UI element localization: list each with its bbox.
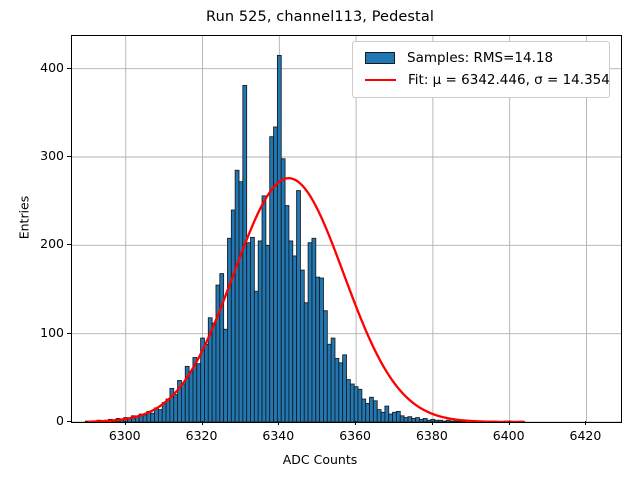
- histogram-bar: [381, 412, 385, 422]
- histogram-bar: [389, 414, 393, 422]
- histogram-bar: [254, 291, 258, 422]
- legend-bar-swatch-icon: [360, 47, 400, 69]
- histogram-bar: [262, 196, 266, 422]
- x-tick-label: 6380: [402, 428, 462, 443]
- histogram-bar: [270, 137, 274, 422]
- histogram-bar: [297, 191, 301, 422]
- histogram-bar: [266, 245, 270, 422]
- histogram-bar: [174, 395, 178, 422]
- histogram-bar: [285, 206, 289, 422]
- histogram-bar: [446, 420, 450, 422]
- histogram-bar: [350, 384, 354, 422]
- y-tick-label: 400: [14, 60, 64, 74]
- x-tick-label: 6320: [172, 428, 232, 443]
- x-tick-mark: [202, 421, 203, 425]
- histogram-bar: [293, 256, 297, 422]
- histogram-bar: [216, 285, 220, 422]
- histogram-bar: [308, 243, 312, 422]
- y-tick-mark: [67, 68, 71, 69]
- histogram-bar: [251, 237, 255, 422]
- histogram-bar: [362, 399, 366, 422]
- y-tick-label: 0: [14, 413, 64, 427]
- histogram-bar: [408, 417, 412, 422]
- histogram-bar: [404, 418, 408, 422]
- histogram-bar: [212, 323, 216, 422]
- y-tick-label: 100: [14, 325, 64, 339]
- histogram-bar: [393, 412, 397, 422]
- x-tick-mark: [585, 421, 586, 425]
- histogram-bar: [335, 358, 339, 422]
- histogram-bar: [400, 416, 404, 422]
- histogram-bar: [339, 363, 343, 422]
- histogram-bar: [416, 418, 420, 422]
- histogram-bar: [396, 411, 400, 422]
- histogram-bar: [320, 278, 324, 422]
- x-tick-label: 6360: [325, 428, 385, 443]
- histogram-bar: [304, 303, 308, 422]
- histogram-bar: [274, 127, 278, 422]
- histogram-bar: [247, 243, 251, 422]
- x-tick-label: 6420: [555, 428, 615, 443]
- x-tick-mark: [509, 421, 510, 425]
- histogram-bar: [143, 415, 147, 422]
- x-tick-label: 6340: [248, 428, 308, 443]
- y-tick-mark: [67, 421, 71, 422]
- histogram-bar: [377, 410, 381, 422]
- histogram-bar: [204, 344, 208, 422]
- x-tick-mark: [278, 421, 279, 425]
- legend-label-fit: Fit: μ = 6342.446, σ = 14.354: [400, 72, 610, 88]
- x-axis-label: ADC Counts: [0, 452, 640, 467]
- histogram-bar: [312, 238, 316, 422]
- legend-item-samples: Samples: RMS=14.18: [360, 47, 602, 69]
- histogram-bar: [373, 401, 377, 422]
- histogram-bar: [370, 397, 374, 422]
- histogram-bar: [354, 387, 358, 422]
- histogram-bar: [454, 421, 458, 422]
- chart-title: Run 525, channel113, Pedestal: [0, 9, 640, 25]
- histogram-bar: [442, 421, 446, 422]
- chart-legend: Samples: RMS=14.18 Fit: μ = 6342.446, σ …: [352, 41, 610, 98]
- histogram-bar: [220, 274, 224, 422]
- histogram-bar: [327, 344, 331, 422]
- histogram-bar: [343, 355, 347, 422]
- y-tick-mark: [67, 244, 71, 245]
- histogram-bar: [427, 420, 431, 422]
- histogram-bar: [423, 418, 427, 422]
- histogram-bar: [300, 270, 304, 422]
- histogram-bar: [289, 241, 293, 422]
- histogram-bar: [385, 406, 389, 422]
- histogram-bar: [347, 380, 351, 422]
- histogram-bar: [277, 55, 281, 422]
- x-tick-mark: [355, 421, 356, 425]
- histogram-bar: [323, 311, 327, 422]
- legend-item-fit: Fit: μ = 6342.446, σ = 14.354: [360, 69, 602, 91]
- histogram-bar: [358, 389, 362, 422]
- legend-line-icon: [360, 69, 400, 91]
- histogram-bar: [235, 170, 239, 422]
- histogram-bar: [258, 241, 262, 422]
- x-tick-mark: [432, 421, 433, 425]
- legend-label-samples: Samples: RMS=14.18: [400, 50, 553, 66]
- y-axis-label: Entries: [17, 168, 32, 268]
- x-tick-mark: [125, 421, 126, 425]
- histogram-bar: [281, 159, 285, 422]
- histogram-bar: [158, 410, 162, 422]
- y-tick-mark: [67, 156, 71, 157]
- histogram-bar: [450, 421, 454, 422]
- histogram-bar: [435, 420, 439, 422]
- histogram-bar: [412, 418, 416, 422]
- histogram-bar: [243, 85, 247, 422]
- histogram-bar: [151, 413, 155, 422]
- y-tick-label: 300: [14, 148, 64, 162]
- histogram-bar: [239, 182, 243, 422]
- histogram-bar: [181, 384, 185, 422]
- histogram-bar: [331, 338, 335, 422]
- histogram-bar: [197, 364, 201, 422]
- chart-figure: Run 525, channel113, Pedestal 6300632063…: [0, 0, 640, 480]
- x-tick-label: 6400: [479, 428, 539, 443]
- histogram-bar: [231, 210, 235, 422]
- histogram-bar: [224, 329, 228, 422]
- y-tick-mark: [67, 333, 71, 334]
- x-tick-label: 6300: [95, 428, 155, 443]
- histogram-bars: [85, 55, 523, 422]
- histogram-bar: [366, 403, 370, 422]
- histogram-bar: [189, 372, 193, 422]
- histogram-bar: [316, 277, 320, 422]
- histogram-bar: [419, 419, 423, 422]
- histogram-bar: [439, 420, 443, 422]
- histogram-bar: [227, 238, 231, 422]
